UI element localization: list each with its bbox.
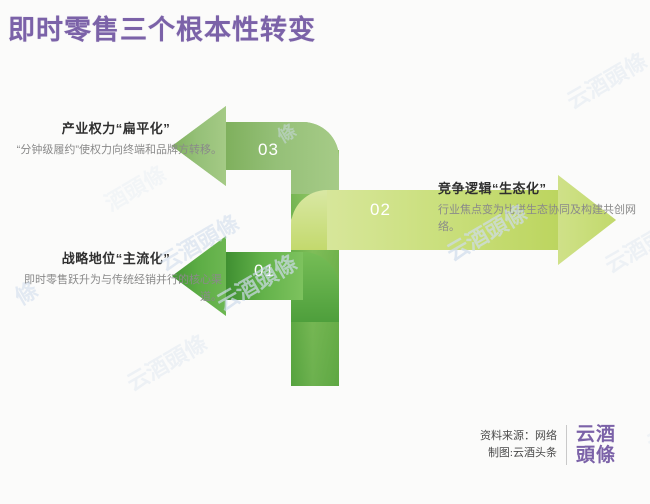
callout-01: 战略地位“主流化” 即时零售跃升为与传统经销并行的核心渠道。 xyxy=(14,250,222,306)
infographic-canvas: 即时零售三个根本性转变 xyxy=(0,0,650,504)
callout-03-heading: 产业权力“扁平化” xyxy=(14,120,222,138)
brand-logo: 云酒 頭條 xyxy=(567,424,616,466)
callout-01-heading: 战略地位“主流化” xyxy=(14,250,222,268)
callout-01-body: 即时零售跃升为与传统经销并行的核心渠道。 xyxy=(14,272,222,306)
callout-03: 产业权力“扁平化” “分钟级履约”使权力向终端和品牌方转移。 xyxy=(14,120,222,159)
callout-03-body: “分钟级履约”使权力向终端和品牌方转移。 xyxy=(14,142,222,159)
callout-02: 竞争逻辑“生态化” 行业焦点变为比拼生态协同及构建共创网络。 xyxy=(438,180,643,236)
brand-logo-line1: 云酒 xyxy=(576,424,616,445)
footer-credit-line: 制图:云酒头条 xyxy=(480,445,557,462)
callout-02-body: 行业焦点变为比拼生态协同及构建共创网络。 xyxy=(438,202,643,236)
footer-source: 资料来源：网络 制图:云酒头条 xyxy=(480,428,566,462)
footer-source-line: 资料来源：网络 xyxy=(480,428,557,445)
footer: 资料来源：网络 制图:云酒头条 云酒 頭條 xyxy=(480,424,616,466)
callout-02-heading: 竞争逻辑“生态化” xyxy=(438,180,643,198)
brand-logo-line2: 頭條 xyxy=(576,445,616,466)
